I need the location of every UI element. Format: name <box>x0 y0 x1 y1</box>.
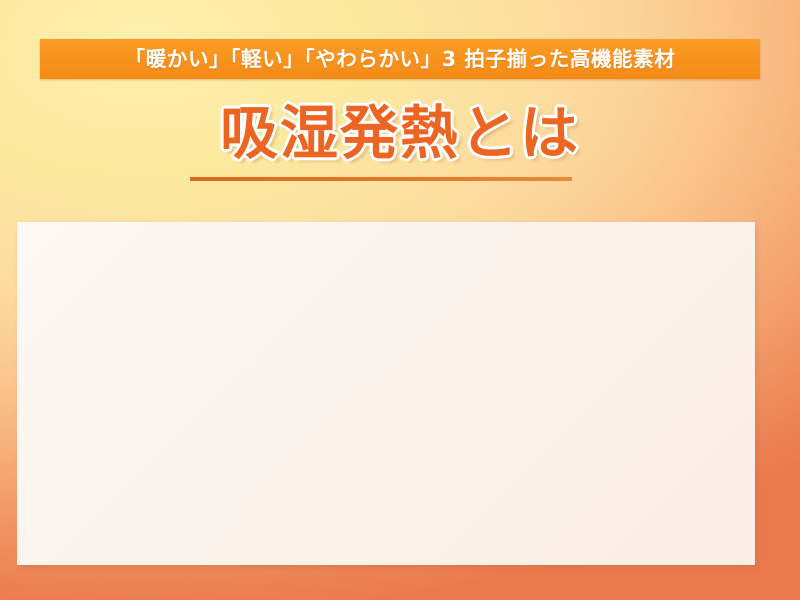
page-title: 吸湿発熱とは <box>220 103 580 164</box>
poster-root: 「暖かい」「軽い」「やわらかい」3 拍子揃った高機能素材 吸湿発熱とは <box>0 0 800 600</box>
header-banner-text: 「暖かい」「軽い」「やわらかい」3 拍子揃った高機能素材 <box>125 49 676 70</box>
content-card <box>17 222 755 565</box>
title-underline <box>190 177 572 181</box>
title-block: 吸湿発熱とは <box>0 103 800 164</box>
header-banner: 「暖かい」「軽い」「やわらかい」3 拍子揃った高機能素材 <box>40 39 760 79</box>
